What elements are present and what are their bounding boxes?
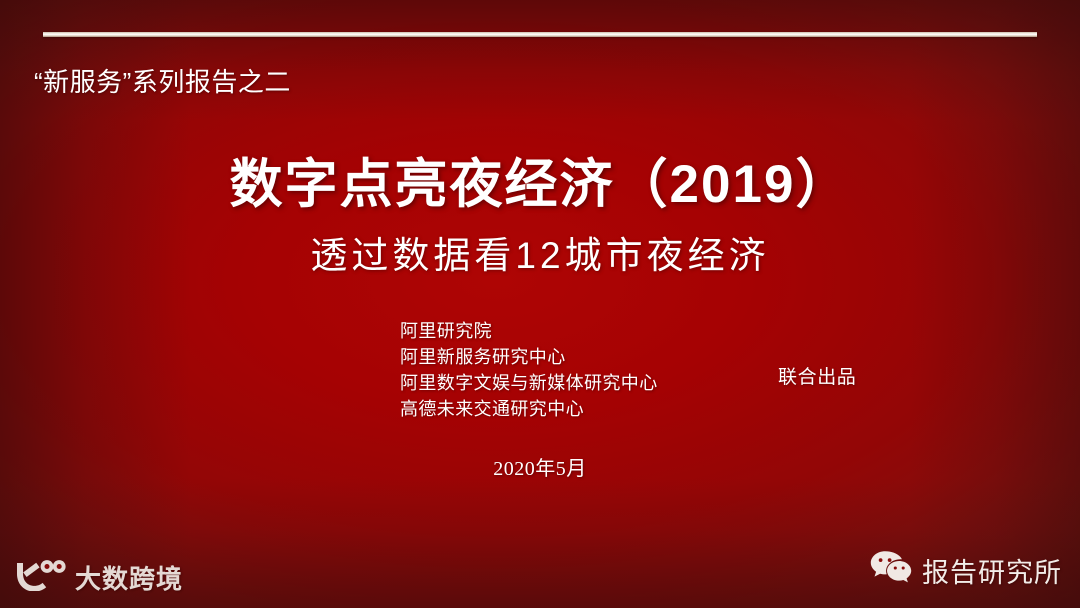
organization-item: 阿里新服务研究中心 bbox=[400, 344, 658, 370]
k100-mark-icon bbox=[14, 559, 66, 596]
organization-list: 阿里研究院 阿里新服务研究中心 阿里数字文娱与新媒体研究中心 高德未来交通研究中… bbox=[400, 318, 658, 422]
series-kicker: “新服务”系列报告之二 bbox=[34, 62, 291, 99]
brand-logo-label: 大数跨境 bbox=[75, 559, 183, 596]
wechat-watermark-label: 报告研究所 bbox=[922, 551, 1062, 590]
top-divider-rule bbox=[43, 32, 1037, 37]
brand-logo: 大数跨境 bbox=[14, 559, 183, 596]
vignette-right bbox=[910, 0, 1080, 608]
organization-item: 高德未来交通研究中心 bbox=[400, 396, 658, 422]
wechat-watermark: 报告研究所 bbox=[870, 550, 1062, 590]
organization-item: 阿里数字文娱与新媒体研究中心 bbox=[400, 370, 658, 396]
wechat-icon bbox=[870, 550, 912, 590]
page-subtitle: 透过数据看12城市夜经济 bbox=[0, 225, 1080, 279]
organization-item: 阿里研究院 bbox=[400, 318, 658, 344]
publication-date: 2020年5月 bbox=[0, 452, 1080, 481]
vignette-top bbox=[0, 0, 1080, 120]
joint-production-label: 联合出品 bbox=[778, 362, 856, 389]
slide-canvas: “新服务”系列报告之二 数字点亮夜经济（2019） 透过数据看12城市夜经济 阿… bbox=[0, 0, 1080, 608]
page-title: 数字点亮夜经济（2019） bbox=[0, 142, 1080, 218]
